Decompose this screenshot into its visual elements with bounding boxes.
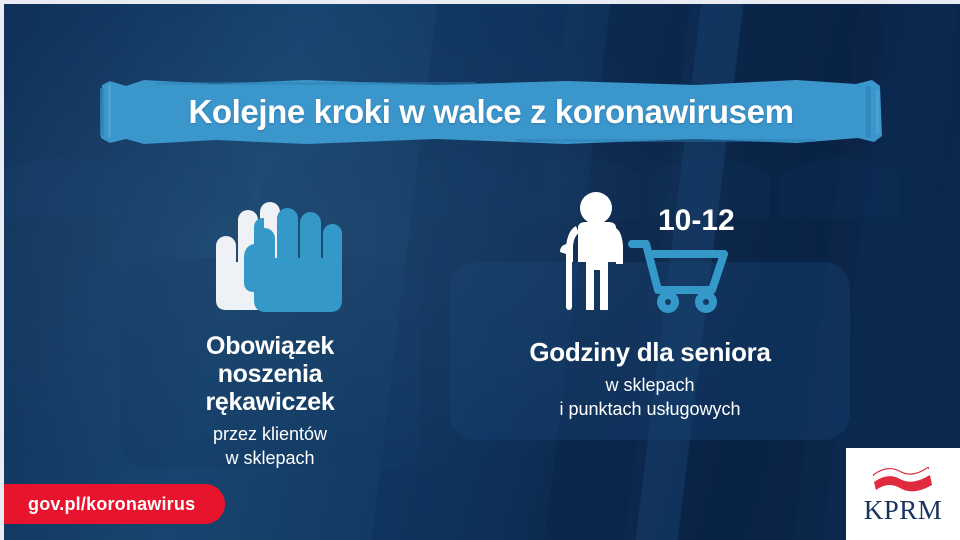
poster: Kolejne kroki w walce z koronawirusem: [0, 0, 960, 540]
subline-line: w sklepach: [110, 447, 430, 471]
senior-subline: w sklepach i punktach usługowych: [452, 374, 848, 422]
subline-line: i punktach usługowych: [452, 398, 848, 422]
kprm-logo: KPRM: [846, 448, 960, 540]
poster-title: Kolejne kroki w walce z koronawirusem: [96, 78, 886, 146]
gloved-hands-icon: [196, 188, 344, 314]
senior-with-shopping-cart-icon: 10-12: [546, 186, 754, 314]
hours-badge: 10-12: [658, 204, 735, 237]
headline-line: Obowiązek: [110, 332, 430, 360]
title-banner: Kolejne kroki w walce z koronawirusem: [96, 78, 886, 146]
gloves-subline: przez klientów w sklepach: [110, 423, 430, 471]
gloves-headline: Obowiązek noszenia rękawiczek: [110, 332, 430, 416]
headline-line: noszenia: [110, 360, 430, 388]
website-url-badge[interactable]: gov.pl/koronawirus: [0, 484, 225, 524]
kprm-wordmark: KPRM: [864, 495, 943, 526]
headline-line: rękawiczek: [110, 388, 430, 416]
senior-icon-area: 10-12: [452, 186, 848, 314]
gloves-icon-area: [110, 186, 430, 314]
headline-line: Godziny dla seniora: [452, 338, 848, 367]
column-gloves: Obowiązek noszenia rękawiczek przez klie…: [110, 186, 430, 471]
senior-headline: Godziny dla seniora: [452, 338, 848, 367]
column-senior-hours: 10-12 Godziny dla seniora w sklepach i p…: [452, 186, 848, 422]
frame-edge-top: [0, 0, 960, 4]
frame-edge-left: [0, 0, 4, 540]
subline-line: przez klientów: [110, 423, 430, 447]
subline-line: w sklepach: [452, 374, 848, 398]
polish-flag-wave-icon: [870, 463, 936, 493]
